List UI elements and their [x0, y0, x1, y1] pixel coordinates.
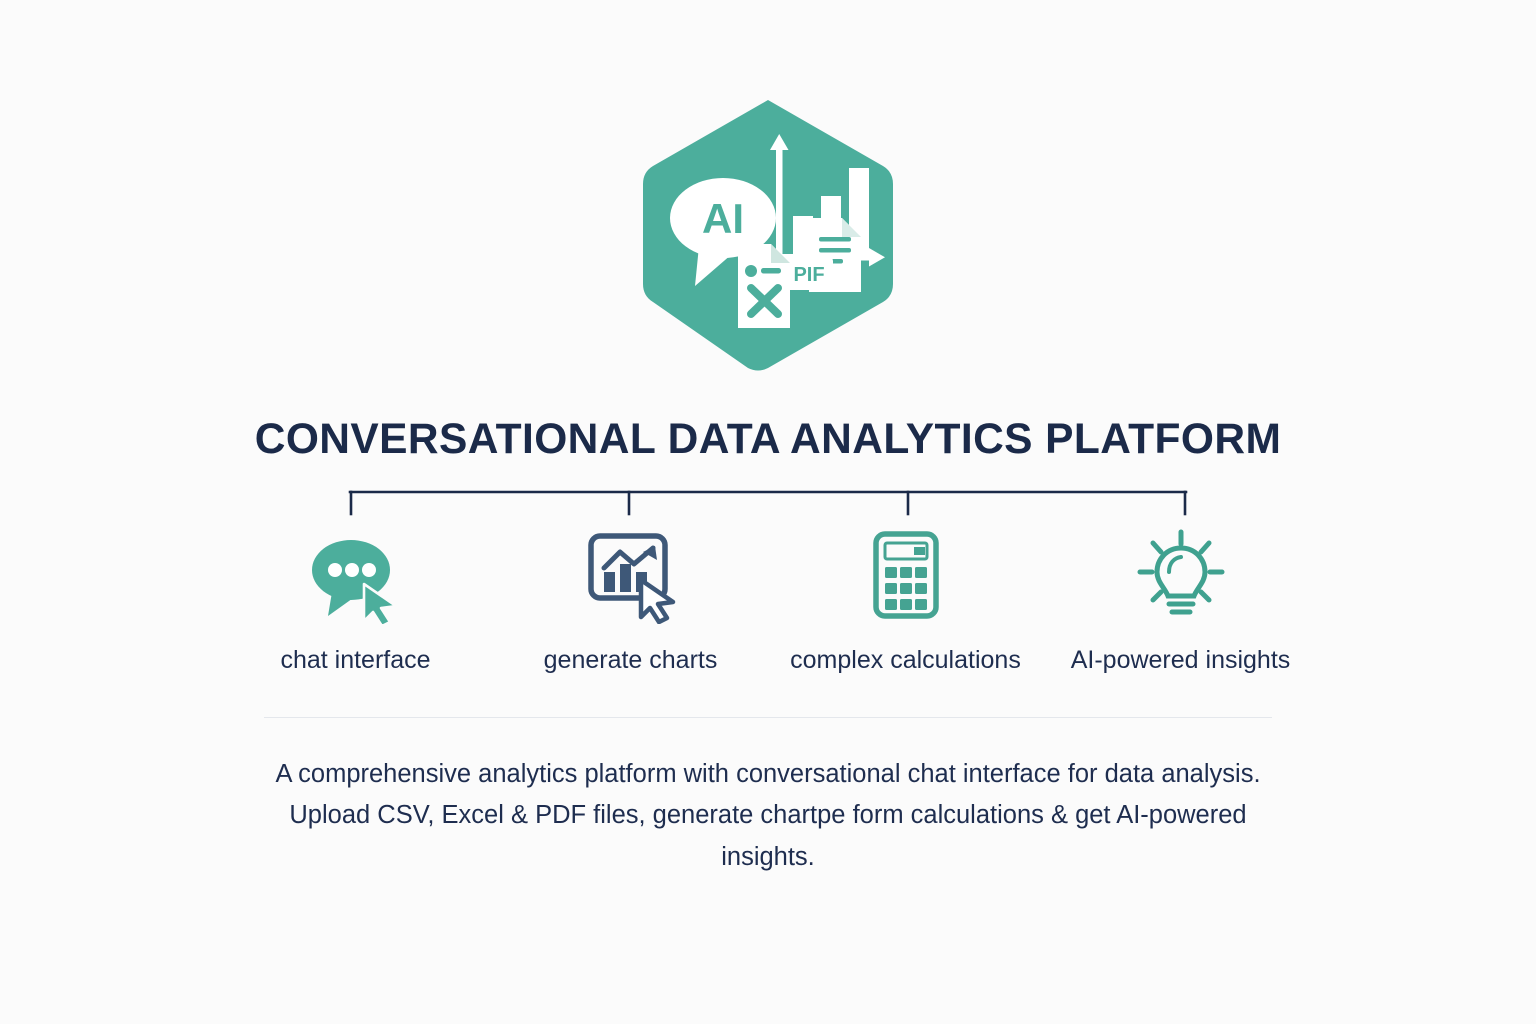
hexagon-logo: AI PIF — [637, 96, 899, 372]
page-title: CONVERSATIONAL DATA ANALYTICS PLATFORM — [255, 416, 1282, 464]
lightbulb-icon — [1129, 528, 1233, 624]
poster-root: AI PIF — [0, 0, 1536, 1024]
feature-ai-powered-insights[interactable]: AI-powered insights — [1043, 528, 1318, 675]
spreadsheet-x-icon — [738, 244, 790, 328]
chart-cursor-icon — [579, 528, 683, 624]
feature-complex-calculations[interactable]: complex calculations — [768, 528, 1043, 675]
connector-bracket — [348, 490, 1188, 516]
feature-generate-charts[interactable]: generate charts — [493, 528, 768, 675]
feature-list: chat interface generate charts — [218, 528, 1318, 675]
section-divider — [264, 717, 1272, 718]
feature-label-generate-charts: generate charts — [544, 646, 718, 675]
ai-bubble-text: AI — [702, 195, 744, 242]
chat-bubble-cursor-icon — [304, 528, 408, 624]
cursor-arrow — [641, 580, 673, 622]
description-text: A comprehensive analytics platform with … — [263, 754, 1273, 878]
feature-label-ai-powered-insights: AI-powered insights — [1071, 646, 1291, 675]
feature-label-chat-interface: chat interface — [280, 646, 430, 675]
pdf-badge: PIF — [785, 256, 833, 290]
pdf-badge-text: PIF — [793, 264, 824, 286]
feature-chat-interface[interactable]: chat interface — [218, 528, 493, 675]
feature-label-complex-calculations: complex calculations — [790, 646, 1021, 675]
calculator-icon — [854, 528, 958, 624]
